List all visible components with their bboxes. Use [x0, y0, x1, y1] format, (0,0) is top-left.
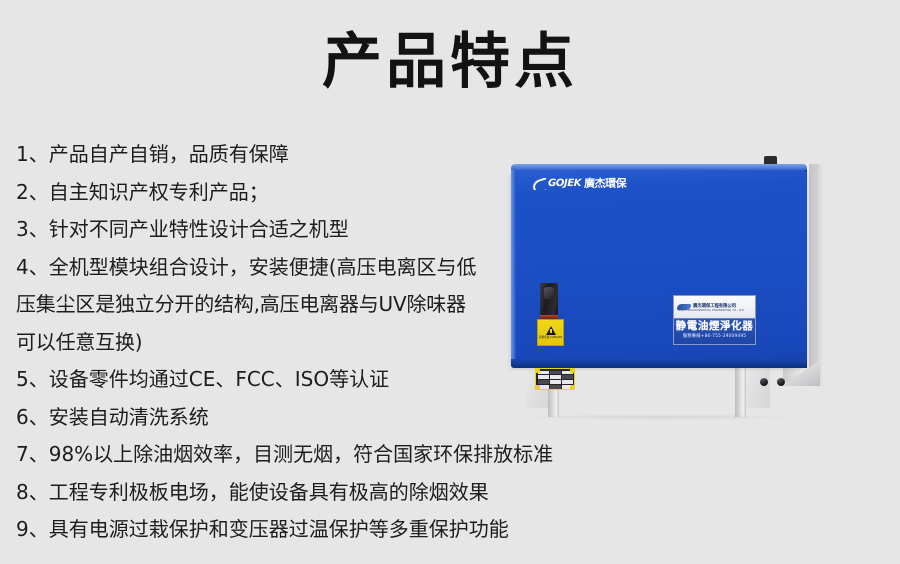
rating-plate-cell — [562, 375, 573, 378]
nameplate-product-name: 静電油煙淨化器 — [674, 320, 755, 333]
page-title: 产品特点 — [0, 26, 900, 98]
product-photo: GOJEK 廣杰環保 高壓危險 DANGER 廣杰環保工程有限公司 GOJEK … — [500, 128, 900, 418]
rating-plate-cell — [550, 385, 561, 388]
swoosh-icon — [533, 178, 546, 190]
rating-plate-row — [538, 385, 573, 388]
rating-plate-corner — [536, 369, 540, 373]
panel-hole — [760, 378, 768, 386]
switch-rocker — [544, 287, 554, 299]
nameplate-company-latin: GOJEK ENVIRONMENTAL ENGINEERING CO., LTD… — [678, 309, 745, 312]
list-item: 8、工程专利极板电场，能使设备具有极高的除烟效果 — [16, 474, 656, 512]
high-voltage-warning-icon: 高壓危險 DANGER — [537, 319, 564, 346]
rating-plate-cell — [550, 375, 561, 378]
rating-plate-row — [538, 371, 573, 374]
list-item: 9、具有电源过栽保护和变压器过温保护等多重保护功能 — [16, 511, 656, 549]
rating-plate — [535, 368, 575, 390]
nameplate-service-line: 服務專線+86-755-29009495 — [674, 334, 755, 340]
brand-latin: GOJEK — [548, 178, 581, 190]
rating-plate-cell — [550, 380, 561, 383]
back-panel-shadow — [809, 164, 823, 386]
rating-plate-cell — [550, 371, 561, 374]
list-item: 7、98%以上除油烟效率，目测无烟，符合国家环保排放标准 — [16, 436, 656, 474]
rating-plate-row — [538, 380, 573, 383]
rating-plate-corner — [570, 369, 574, 373]
power-switch[interactable] — [540, 283, 558, 315]
nameplate-header: 廣杰環保工程有限公司 — [674, 296, 755, 318]
warning-triangle-icon — [546, 326, 556, 335]
cabinet-front-panel: GOJEK 廣杰環保 高壓危險 DANGER 廣杰環保工程有限公司 GOJEK … — [511, 170, 807, 366]
floor-shadow — [520, 414, 800, 420]
cabinet-left-edge — [511, 170, 516, 366]
warning-caption: 高壓危險 DANGER — [539, 336, 562, 339]
cabinet-bottom-edge — [511, 359, 807, 368]
rating-plate-cell — [538, 375, 549, 378]
page-root: 产品特点 1、产品自产自销，品质有保障 2、自主知识产权专利产品； 3、针对不同… — [0, 0, 900, 564]
panel-hole — [777, 378, 785, 386]
rating-plate-corner — [536, 385, 540, 389]
support-leg-right — [735, 360, 746, 417]
brand-cjk: 廣杰環保 — [584, 178, 626, 190]
product-nameplate: 廣杰環保工程有限公司 GOJEK ENVIRONMENTAL ENGINEERI… — [673, 295, 756, 345]
rating-plate-corner — [570, 385, 574, 389]
rating-plate-row — [538, 375, 573, 378]
rating-plate-cell — [562, 380, 573, 383]
brand-logo: GOJEK 廣杰環保 — [533, 178, 626, 190]
rating-plate-cell — [538, 380, 549, 383]
